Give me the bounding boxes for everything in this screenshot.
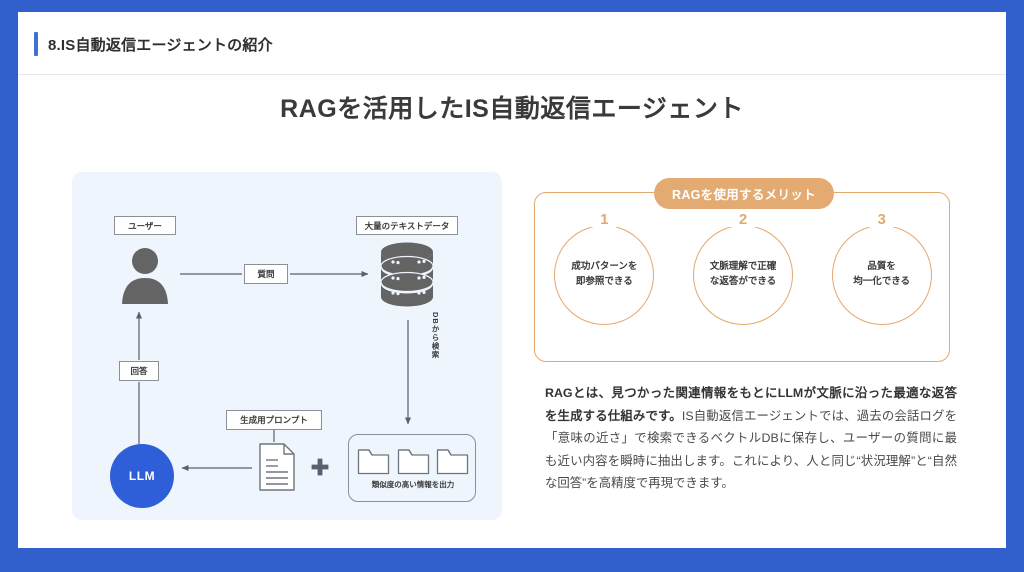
merit-number: 2 <box>686 213 800 227</box>
merit-circle: 文脈理解で正確 な返答ができる <box>693 225 793 325</box>
rag-description: RAGとは、見つかった関連情報をもとにLLMが文脈に沿った最適な返答を生成する仕… <box>545 382 957 495</box>
rag-merits-box: RAGを使用するメリット 成功パターンを 即参照できる 1 文脈理解で正確 な返… <box>534 192 950 362</box>
label-text-data: 大量のテキストデータ <box>356 216 458 235</box>
folder-icon <box>397 445 430 475</box>
similar-info-caption: 類似度の高い情報を出力 <box>349 479 477 490</box>
label-user: ユーザー <box>114 216 176 235</box>
merit-item: 成功パターンを 即参照できる 1 <box>547 215 661 339</box>
merit-item: 品質を 均一化できる 3 <box>825 215 939 339</box>
merit-number: 3 <box>825 213 939 227</box>
merit-badge: RAGを使用するメリット <box>654 178 834 209</box>
slide-card: 8.IS自動返信エージェントの紹介 RAGを活用したIS自動返信エージェント <box>18 12 1006 548</box>
folder-icon-group <box>357 443 469 475</box>
folder-icon <box>436 445 469 475</box>
header-title: 8.IS自動返信エージェントの紹介 <box>48 34 273 55</box>
label-db-search: DBから検索 <box>430 312 441 359</box>
user-icon <box>116 246 174 304</box>
merit-list: 成功パターンを 即参照できる 1 文脈理解で正確 な返答ができる 2 品質を 均… <box>535 215 951 355</box>
document-icon <box>258 443 296 491</box>
header-accent-bar <box>34 32 38 56</box>
similar-info-box: 類似度の高い情報を出力 <box>348 434 476 502</box>
database-icon <box>377 240 437 310</box>
page-title: RAGを活用したIS自動返信エージェント <box>18 89 1006 125</box>
slide-header: 8.IS自動返信エージェントの紹介 <box>34 32 273 56</box>
label-generation-prompt: 生成用プロンプト <box>226 410 322 430</box>
rag-flow-diagram: ユーザー 大量のテキストデータ 質問 回答 生成用プロンプト DBから検索 <box>72 172 502 520</box>
merit-text: 成功パターンを 即参照できる <box>571 260 637 289</box>
llm-label: LLM <box>129 469 155 483</box>
folder-icon <box>357 445 390 475</box>
label-answer: 回答 <box>119 361 159 381</box>
merit-number: 1 <box>547 213 661 227</box>
merit-circle: 成功パターンを 即参照できる <box>554 225 654 325</box>
plus-icon <box>310 457 330 477</box>
merit-item: 文脈理解で正確 な返答ができる 2 <box>686 215 800 339</box>
merit-circle: 品質を 均一化できる <box>832 225 932 325</box>
header-divider <box>18 74 1006 75</box>
label-question: 質問 <box>244 264 288 284</box>
merit-text: 品質を 均一化できる <box>853 260 910 289</box>
llm-node: LLM <box>110 444 174 508</box>
merit-text: 文脈理解で正確 な返答ができる <box>710 260 777 289</box>
